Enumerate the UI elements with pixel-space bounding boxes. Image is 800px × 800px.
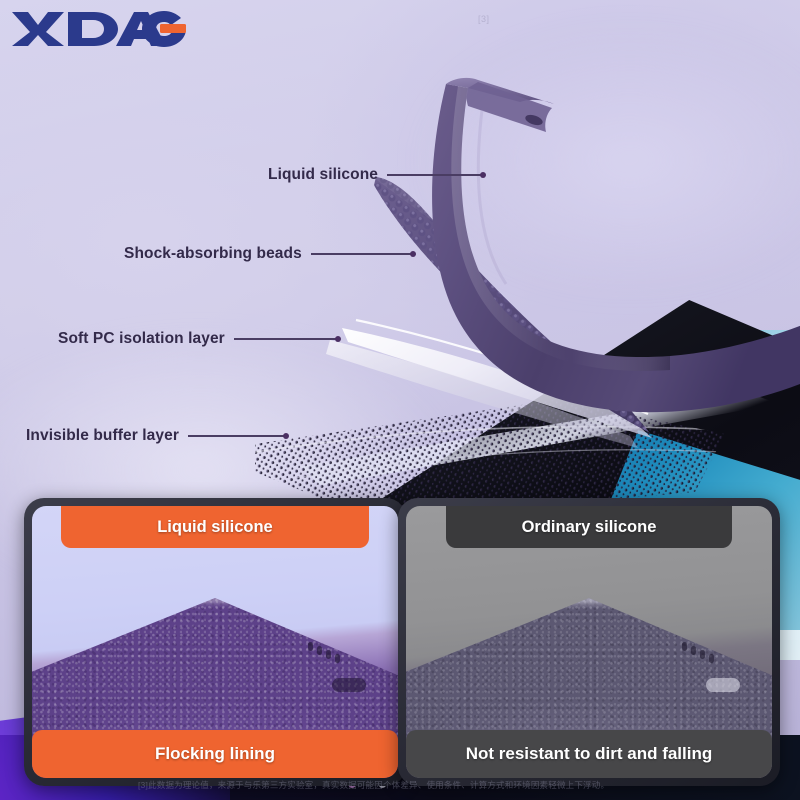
comparison-panel-right: Ordinary silicone Not resistant to dirt … (406, 506, 772, 778)
callout-label: Soft PC isolation layer (58, 330, 225, 348)
callout-label: Liquid silicone (268, 166, 378, 184)
panel-left-header-label: Liquid silicone (157, 518, 273, 537)
leader-dot (480, 172, 486, 178)
panel-right-header-badge: Ordinary silicone (446, 506, 731, 548)
callout-soft-pc-isolation-layer: Soft PC isolation layer (58, 330, 338, 348)
panel-right-footer-label: Not resistant to dirt and falling (466, 744, 713, 764)
leader-line (387, 174, 483, 176)
callout-liquid-silicone: Liquid silicone (268, 166, 483, 184)
callout-invisible-buffer-layer: Invisible buffer layer (26, 427, 286, 445)
xdag-logo-icon (8, 6, 188, 50)
panel-right-footer-badge: Not resistant to dirt and falling (406, 730, 772, 778)
callout-shock-absorbing-beads: Shock-absorbing beads (124, 245, 413, 263)
top-watermark: [3] (478, 14, 490, 24)
footer-disclaimer: [3]此数据为理论值，来源于与乐第三方实验室，真实数据可能因个体差异、使用条件、… (138, 779, 678, 791)
leader-line (311, 253, 413, 255)
comparison-panel-left: Liquid silicone Flocking lining (32, 506, 398, 778)
leader-dot (335, 336, 341, 342)
leader-line (234, 338, 338, 340)
leader-dot (410, 251, 416, 257)
brand-logo (8, 6, 188, 50)
leader-line (188, 435, 286, 437)
case-port-cutouts-left (302, 642, 372, 702)
leader-dot (283, 433, 289, 439)
panel-left-footer-label: Flocking lining (155, 744, 275, 764)
liquid-silicone-strip (370, 70, 800, 420)
case-port-cutouts-right (676, 642, 746, 702)
callout-label: Shock-absorbing beads (124, 245, 302, 263)
callout-label: Invisible buffer layer (26, 427, 179, 445)
panel-left-header-badge: Liquid silicone (61, 506, 368, 548)
product-image-stage: [3] Liquid silicone Shock-absorbing bead… (0, 0, 800, 800)
panel-right-header-label: Ordinary silicone (522, 518, 657, 537)
panel-left-footer-badge: Flocking lining (32, 730, 398, 778)
